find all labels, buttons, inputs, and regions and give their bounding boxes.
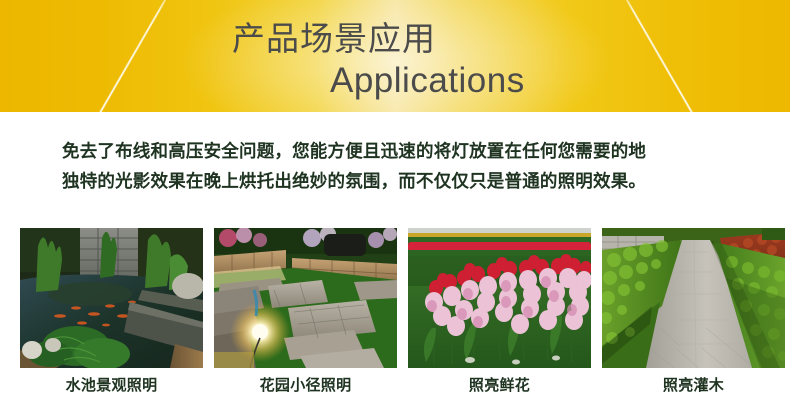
gallery-item[interactable]: 花园小径照明 — [214, 228, 397, 398]
photo-garden-path-night[interactable] — [214, 228, 397, 368]
page-title-chinese: 产品场景应用 — [232, 20, 436, 58]
description-paragraph: 免去了布线和高压安全问题，您能方便且迅速的将灯放置在任何您需要的地 独特的光影效… — [62, 136, 742, 196]
banner-title-block: 产品场景应用 Applications — [0, 0, 790, 112]
gallery-item[interactable]: 水池景观照明 — [20, 228, 203, 398]
application-gallery: 水池景观照明 — [20, 228, 780, 398]
photo-koi-pond[interactable] — [20, 228, 203, 368]
photo-hedge-walkway[interactable] — [602, 228, 785, 368]
gallery-item[interactable]: 照亮鲜花 — [408, 228, 591, 398]
gallery-item-caption: 照亮鲜花 — [469, 377, 530, 395]
gallery-item-caption: 花园小径照明 — [260, 377, 352, 395]
description-line-2: 独特的光影效果在晚上烘托出绝妙的氛围，而不仅仅只是普通的照明效果。 — [62, 166, 742, 196]
gallery-item-caption: 照亮灌木 — [663, 377, 724, 395]
gallery-item[interactable]: 照亮灌木 — [602, 228, 785, 398]
description-line-1: 免去了布线和高压安全问题，您能方便且迅速的将灯放置在任何您需要的地 — [62, 136, 742, 166]
gallery-item-caption: 水池景观照明 — [66, 377, 158, 395]
page-banner: 产品场景应用 Applications — [0, 0, 790, 112]
page-title-english: Applications — [330, 61, 525, 101]
photo-tulip-bed[interactable] — [408, 228, 591, 368]
